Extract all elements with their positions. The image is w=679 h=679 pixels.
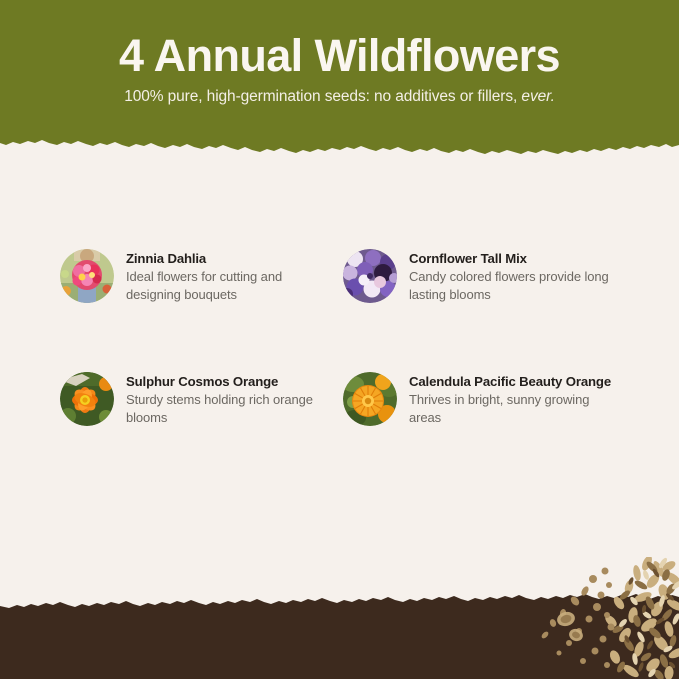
product-infographic: 4 Annual Wildflowers 100% pure, high-ger… — [0, 0, 679, 679]
subtitle-emphasis: ever. — [521, 88, 554, 105]
zinnia-dahlia-thumbnail — [60, 249, 114, 303]
feature-title: Calendula Pacific Beauty Orange — [409, 373, 621, 390]
feature-text-block: Calendula Pacific Beauty Orange Thrives … — [397, 366, 621, 427]
page-subtitle: 100% pure, high-germination seeds: no ad… — [0, 79, 679, 106]
page-title: 4 Annual Wildflowers — [0, 0, 679, 79]
seed-pile-image — [519, 557, 679, 679]
feature-description: Sturdy stems holding rich orange blooms — [126, 390, 331, 427]
feature-title: Cornflower Tall Mix — [409, 250, 614, 267]
feature-text-block: Sulphur Cosmos Orange Sturdy stems holdi… — [114, 366, 331, 427]
feature-item-cornflower-tall-mix: Cornflower Tall Mix Candy colored flower… — [343, 243, 630, 366]
feature-description: Thrives in bright, sunny growing areas — [409, 390, 621, 427]
cornflower-tall-mix-thumbnail — [343, 249, 397, 303]
feature-text-block: Zinnia Dahlia Ideal flowers for cutting … — [114, 243, 331, 304]
feature-item-sulphur-cosmos-orange: Sulphur Cosmos Orange Sturdy stems holdi… — [60, 366, 343, 427]
thumbnail-wrapper — [60, 372, 114, 426]
feature-item-zinnia-dahlia: Zinnia Dahlia Ideal flowers for cutting … — [60, 243, 343, 366]
header-banner: 4 Annual Wildflowers 100% pure, high-ger… — [0, 0, 679, 158]
thumbnail-wrapper — [60, 249, 114, 303]
feature-description: Ideal flowers for cutting and designing … — [126, 267, 331, 304]
feature-title: Sulphur Cosmos Orange — [126, 373, 331, 390]
header-text-block: 4 Annual Wildflowers 100% pure, high-ger… — [0, 0, 679, 106]
subtitle-main: 100% pure, high-germination seeds: no ad… — [124, 88, 517, 105]
footer-banner — [0, 549, 679, 679]
calendula-pacific-beauty-orange-thumbnail — [343, 372, 397, 426]
thumbnail-wrapper — [343, 249, 397, 303]
feature-grid: Zinnia Dahlia Ideal flowers for cutting … — [60, 243, 630, 427]
thumbnail-wrapper — [343, 372, 397, 426]
feature-item-calendula-pacific-beauty-orange: Calendula Pacific Beauty Orange Thrives … — [343, 366, 630, 427]
sulphur-cosmos-orange-thumbnail — [60, 372, 114, 426]
feature-text-block: Cornflower Tall Mix Candy colored flower… — [397, 243, 614, 304]
feature-description: Candy colored flowers provide long lasti… — [409, 267, 614, 304]
feature-title: Zinnia Dahlia — [126, 250, 331, 267]
